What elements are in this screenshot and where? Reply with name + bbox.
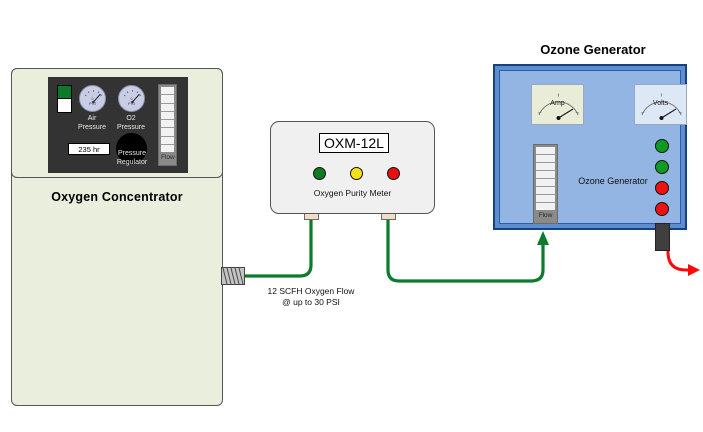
ozone-flow-label: Flow <box>536 210 555 221</box>
flow-segment <box>536 195 555 203</box>
flow-segment <box>161 87 174 95</box>
purity-meter-caption: Oxygen Purity Meter <box>271 188 434 198</box>
oxygen-purity-meter-body: OXM-12L Oxygen Purity Meter <box>270 121 435 214</box>
o2-pressure-gauge-icon: 0 PSI <box>118 85 145 112</box>
ozone-output-arrow-icon <box>688 264 700 276</box>
purity-meter-model-badge: OXM-12L <box>319 133 389 153</box>
oxygen-concentrator-panel-frame: 0 PSI Air Pressure <box>11 68 223 178</box>
flow-segment <box>536 171 555 179</box>
concentrator-flow-meter: Flow <box>158 84 177 166</box>
ozone-led-green-1-icon <box>655 139 669 153</box>
purity-meter-inlet-port <box>304 213 319 220</box>
oxygen-concentrator-control-panel: 0 PSI Air Pressure <box>48 77 188 173</box>
flow-segment <box>161 104 174 112</box>
pressure-regulator-caption-line2: Regulator <box>105 158 159 167</box>
o2-pressure-caption: O2 Pressure <box>105 114 157 132</box>
flow-segment <box>161 95 174 103</box>
flow-segment <box>161 128 174 136</box>
ozone-flow-meter: Flow <box>533 144 558 224</box>
ozone-output-arrow-line <box>668 231 691 270</box>
volts-meter-label: Volts <box>635 100 686 107</box>
flow-segment <box>536 147 555 155</box>
ozone-led-red-1-icon <box>655 181 669 195</box>
flow-segment <box>161 137 174 145</box>
amp-meter-label: Amp <box>532 100 583 107</box>
concentrator-flow-scale <box>161 87 174 152</box>
pressure-regulator-caption: Pressure Regulator <box>105 149 159 167</box>
flow-segment <box>161 112 174 120</box>
flow-spec-label: 12 SCFH Oxygen Flow @ up to 30 PSI <box>246 286 376 308</box>
status-led-off-icon <box>58 99 71 112</box>
volts-meter-icon: Volts <box>634 84 687 125</box>
air-gauge-unit-label: PSI <box>80 101 105 106</box>
flow-spec-line2: @ up to 30 PSI <box>246 297 376 308</box>
o2-pressure-caption-line2: Pressure <box>105 123 157 132</box>
ozone-generator-center-label: Ozone Generator <box>558 176 668 186</box>
diagram-canvas: 0 PSI Air Pressure <box>0 0 703 432</box>
status-indicator-block <box>57 85 72 113</box>
air-pressure-gauge-icon: 0 PSI <box>79 85 106 112</box>
flow-segment <box>536 187 555 195</box>
purity-led-red-icon <box>387 167 400 180</box>
flow-segment <box>161 120 174 128</box>
purity-led-yellow-icon <box>350 167 363 180</box>
flow-spec-line1: 12 SCFH Oxygen Flow <box>246 286 376 297</box>
concentrator-flow-label: Flow <box>161 152 174 163</box>
ozone-generator-body: Amp Volts <box>493 64 687 230</box>
ozone-generator-title: Ozone Generator <box>493 42 693 57</box>
oxygen-concentrator-title: Oxygen Concentrator <box>11 190 223 204</box>
ozone-flow-scale <box>536 147 555 210</box>
purity-led-green-icon <box>313 167 326 180</box>
flow-segment <box>536 155 555 163</box>
ozone-generator-inner-panel: Amp Volts <box>499 70 681 224</box>
o2-gauge-unit-label: PSI <box>119 101 144 106</box>
oxygen-outlet-fitting-icon <box>221 267 245 285</box>
flow-segment <box>536 203 555 210</box>
pressure-regulator-caption-line1: Pressure <box>105 149 159 158</box>
tube-concentrator-to-meter <box>245 220 311 276</box>
flow-segment <box>536 179 555 187</box>
amp-meter-icon: Amp <box>531 84 584 125</box>
ozone-led-green-2-icon <box>655 160 669 174</box>
flow-segment <box>536 163 555 171</box>
hour-meter-display: 235 hr <box>68 143 110 155</box>
tube-inlet-arrow-icon <box>537 231 549 245</box>
flow-segment <box>161 145 174 152</box>
status-led-on-icon <box>58 86 71 99</box>
ozone-power-switch[interactable] <box>655 223 670 251</box>
o2-pressure-caption-line1: O2 <box>105 114 157 123</box>
ozone-led-red-2-icon <box>655 202 669 216</box>
purity-meter-outlet-port <box>381 213 396 220</box>
